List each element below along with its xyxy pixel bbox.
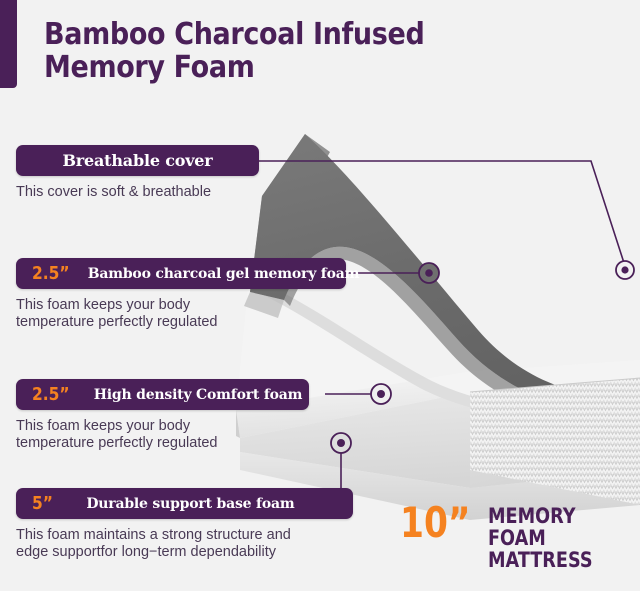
callout-badge-comfort-foam[interactable]: 2.5” High density Comfort foam — [16, 379, 309, 410]
infographic-canvas: Bamboo Charcoal Infused Memory Foam Brea… — [0, 0, 640, 591]
product-name-label: MEMORY FOAM MATTRESS — [488, 505, 616, 571]
title-accent-bar — [0, 0, 17, 88]
callout-badge-gel-memory-foam[interactable]: 2.5” Bamboo charcoal gel memory foam — [16, 258, 346, 289]
callout-dots — [331, 261, 634, 453]
callout-breathable-cover: Breathable cover This cover is soft & br… — [16, 145, 259, 201]
callout-description-breathable-cover: This cover is soft & breathable — [16, 184, 259, 201]
callout-title-breathable-cover: Breathable cover — [62, 151, 212, 170]
callout-description-comfort-foam: This foam keeps your body temperature pe… — [16, 418, 309, 452]
layer-knit-cover-panel — [460, 370, 640, 515]
callout-dot-gel-foam — [419, 263, 439, 283]
callout-measure-base-foam: 5” — [32, 493, 53, 514]
callout-badge-base-foam[interactable]: 5” Durable support base foam — [16, 488, 353, 519]
page-title: Bamboo Charcoal Infused Memory Foam — [44, 18, 512, 84]
callout-description-gel-memory-foam: This foam keeps your body temperature pe… — [16, 297, 346, 331]
callout-title-comfort-foam: High density Comfort foam — [94, 387, 303, 403]
callout-dot-comfort-foam — [371, 384, 391, 404]
connector-cover — [259, 161, 625, 266]
callout-description-base-foam: This foam maintains a strong structure a… — [16, 527, 353, 561]
product-thickness-measure: 10” — [400, 503, 471, 543]
callout-gel-memory-foam: 2.5” Bamboo charcoal gel memory foam Thi… — [16, 258, 346, 331]
callout-measure-comfort-foam: 2.5” — [32, 384, 70, 405]
callout-measure-gel-memory-foam: 2.5” — [32, 263, 70, 284]
callout-dot-base-foam — [331, 433, 351, 453]
callout-badge-breathable-cover[interactable]: Breathable cover — [16, 145, 259, 176]
callout-title-gel-memory-foam: Bamboo charcoal gel memory foam — [88, 266, 360, 282]
callout-base-foam: 5” Durable support base foam This foam m… — [16, 488, 353, 561]
product-summary-lockup: 10” MEMORY FOAM MATTRESS — [400, 503, 640, 571]
callout-title-base-foam: Durable support base foam — [86, 496, 294, 512]
callout-comfort-foam: 2.5” High density Comfort foam This foam… — [16, 379, 309, 452]
callout-dot-cover — [616, 261, 634, 279]
